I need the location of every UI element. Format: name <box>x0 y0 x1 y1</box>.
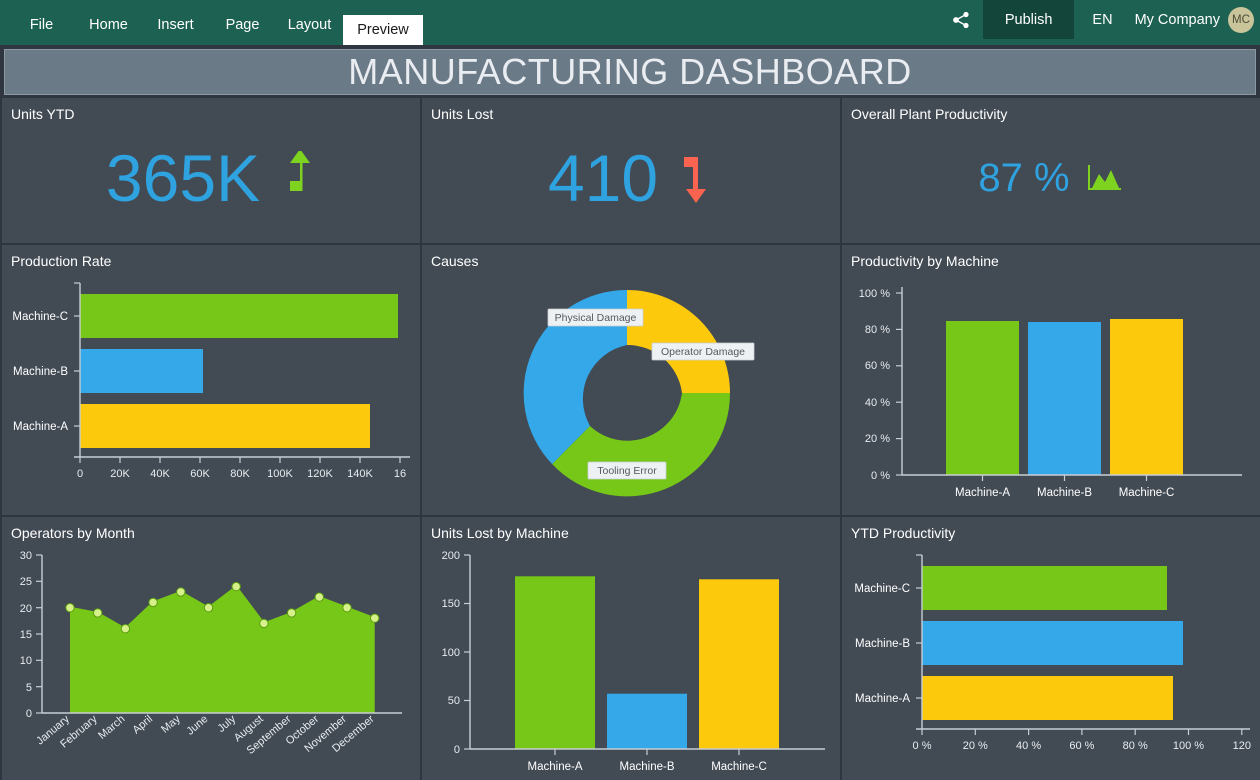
axis-label-machine-a: Machine-A <box>855 693 910 705</box>
svg-text:June: June <box>184 713 210 738</box>
company-label: My Company <box>1131 0 1228 39</box>
svg-text:May: May <box>159 713 183 736</box>
chart-production-rate[interactable]: Machine-C Machine-B Machine-A 0 20K 40K … <box>2 245 420 515</box>
y-tick-100: 100 % <box>859 288 890 300</box>
x-tick-2: 40K <box>150 468 170 480</box>
axis-label-machine-c: Machine-C <box>854 583 910 595</box>
page-title: MANUFACTURING DASHBOARD <box>348 51 912 93</box>
y-tick-150: 150 <box>442 598 460 610</box>
x-tick-40: 40 % <box>1016 740 1041 752</box>
bar-machine-b[interactable] <box>80 349 203 393</box>
axis-label-machine-b: Machine-B <box>855 638 910 650</box>
language-selector[interactable]: EN <box>1074 0 1130 39</box>
tab-home[interactable]: Home <box>75 11 142 39</box>
axis-label-machine-a: Machine-A <box>13 421 68 433</box>
bar-machine-c[interactable] <box>922 566 1167 610</box>
kpi-body: 87 % <box>842 98 1260 243</box>
y-tick-20: 20 <box>20 603 32 615</box>
x-label-machine-c: Machine-C <box>711 761 767 773</box>
ribbon-toolbar: File Home Insert Page Layout Preview Pub… <box>0 0 1260 45</box>
bar-machine-b[interactable] <box>607 694 687 749</box>
x-label-machine-a: Machine-A <box>955 487 1010 499</box>
tab-page[interactable]: Page <box>209 11 276 39</box>
tab-layout[interactable]: Layout <box>276 11 343 39</box>
y-tick-200: 200 <box>442 550 460 562</box>
y-tick-5: 5 <box>26 682 32 694</box>
area-chart-icon <box>1086 162 1124 194</box>
bar-machine-c[interactable] <box>80 294 398 338</box>
avatar[interactable]: MC <box>1228 7 1254 33</box>
bar-machine-b[interactable] <box>922 621 1183 665</box>
trend-up-icon <box>276 151 316 205</box>
dashboard-grid: Units YTD 365K Units Lost 410 Overall Pl… <box>0 98 1260 780</box>
tab-preview[interactable]: Preview <box>343 15 423 45</box>
y-tick-100: 100 <box>442 647 460 659</box>
chart-causes[interactable]: Physical Damage Operator Damage Tooling … <box>422 245 840 515</box>
kpi-value: 87 % <box>978 158 1069 198</box>
y-tick-25: 25 <box>20 576 32 588</box>
bar-machine-a[interactable] <box>515 576 595 749</box>
bar-machine-c[interactable] <box>1110 319 1183 475</box>
donut-label-operator-damage: Operator Damage <box>652 343 754 360</box>
kpi-value: 365K <box>106 145 260 211</box>
x-tick-20: 20 % <box>963 740 988 752</box>
svg-text:March: March <box>96 713 127 742</box>
x-tick-6: 120K <box>307 468 333 480</box>
donut-slice-operator-damage-top[interactable] <box>627 290 730 393</box>
x-label-machine-b: Machine-B <box>1037 487 1092 499</box>
bar-machine-a[interactable] <box>80 404 370 448</box>
kpi-card-units-ytd: Units YTD 365K <box>2 98 420 243</box>
chart-panel-operators-by-month: Operators by Month <box>2 517 420 780</box>
y-tick-60: 60 % <box>865 360 890 372</box>
x-tick-100: 100 % <box>1173 740 1204 752</box>
x-tick-0: 0 % <box>913 740 932 752</box>
tab-insert[interactable]: Insert <box>142 11 209 39</box>
x-tick-80: 80 % <box>1123 740 1148 752</box>
x-tick-8: 16 <box>394 468 406 480</box>
chart-panel-ytd-productivity: YTD Productivity Machine-C Machine-B Mac… <box>842 517 1260 780</box>
chart-operators-by-month[interactable]: 30 25 20 15 10 5 0 January February Marc… <box>2 517 420 780</box>
bar-machine-c[interactable] <box>699 579 779 749</box>
x-tick-7: 140K <box>347 468 373 480</box>
chart-panel-production-rate: Production Rate Machine-C Machine-B Mach… <box>2 245 420 515</box>
kpi-value: 410 <box>548 145 658 211</box>
kpi-body: 365K <box>2 98 420 243</box>
svg-text:April: April <box>130 713 155 736</box>
x-tick-5: 100K <box>267 468 293 480</box>
publish-button[interactable]: Publish <box>983 0 1075 39</box>
x-label-machine-b: Machine-B <box>620 761 675 773</box>
kpi-card-units-lost: Units Lost 410 <box>422 98 840 243</box>
x-axis-month-labels: January February March April May June Ju… <box>34 713 377 757</box>
trend-down-icon <box>674 151 714 205</box>
y-tick-10: 10 <box>20 655 32 667</box>
y-tick-40: 40 % <box>865 397 890 409</box>
bar-machine-a[interactable] <box>922 676 1173 720</box>
ribbon-tab-list: File Home Insert Page Layout Preview <box>0 0 423 45</box>
axis-label-machine-c: Machine-C <box>12 311 68 323</box>
tab-file[interactable]: File <box>8 11 75 39</box>
chart-panel-causes: Causes Physical Damage Operator Damage <box>422 245 840 515</box>
chart-ytd-productivity[interactable]: Machine-C Machine-B Machine-A 0 % 20 % 4… <box>842 517 1260 780</box>
x-tick-4: 80K <box>230 468 250 480</box>
axis-label-machine-b: Machine-B <box>13 366 68 378</box>
x-tick-3: 60K <box>190 468 210 480</box>
y-tick-0: 0 % <box>871 470 890 482</box>
y-tick-15: 15 <box>20 629 32 641</box>
chart-productivity-by-machine[interactable]: 100 % 80 % 60 % 40 % 20 % 0 % Machine-A … <box>842 245 1260 515</box>
y-tick-50: 50 <box>448 695 460 707</box>
y-tick-30: 30 <box>20 550 32 562</box>
kpi-body: 410 <box>422 98 840 243</box>
x-label-machine-c: Machine-C <box>1119 487 1175 499</box>
bar-machine-a[interactable] <box>946 321 1019 475</box>
y-tick-80: 80 % <box>865 324 890 336</box>
x-label-machine-a: Machine-A <box>528 761 583 773</box>
y-tick-0: 0 <box>26 708 32 720</box>
ribbon-actions: Publish EN My Company MC <box>939 0 1260 39</box>
x-tick-120: 120 <box>1233 740 1251 752</box>
share-icon[interactable] <box>939 0 983 39</box>
kpi-card-plant-productivity: Overall Plant Productivity 87 % <box>842 98 1260 243</box>
chart-panel-productivity-by-machine: Productivity by Machine 100 % 80 % 60 % <box>842 245 1260 515</box>
chart-panel-units-lost-by-machine: Units Lost by Machine 200 150 100 50 0 <box>422 517 840 780</box>
svg-text:Operator Damage: Operator Damage <box>661 346 745 358</box>
svg-text:Tooling Error: Tooling Error <box>597 465 657 477</box>
x-tick-1: 20K <box>110 468 130 480</box>
donut-label-tooling-error: Tooling Error <box>588 462 666 479</box>
y-tick-0: 0 <box>454 744 460 756</box>
bar-machine-b[interactable] <box>1028 322 1101 475</box>
x-tick-60: 60 % <box>1069 740 1094 752</box>
area-series-operators[interactable] <box>70 587 375 713</box>
svg-text:Physical Damage: Physical Damage <box>555 312 637 324</box>
x-tick-0: 0 <box>77 468 83 480</box>
dashboard-title-bar: MANUFACTURING DASHBOARD <box>4 49 1256 95</box>
y-tick-20: 20 % <box>865 433 890 445</box>
chart-units-lost-by-machine[interactable]: 200 150 100 50 0 Machine-A Machine-B Mac… <box>422 517 840 780</box>
donut-label-physical-damage: Physical Damage <box>548 309 643 326</box>
